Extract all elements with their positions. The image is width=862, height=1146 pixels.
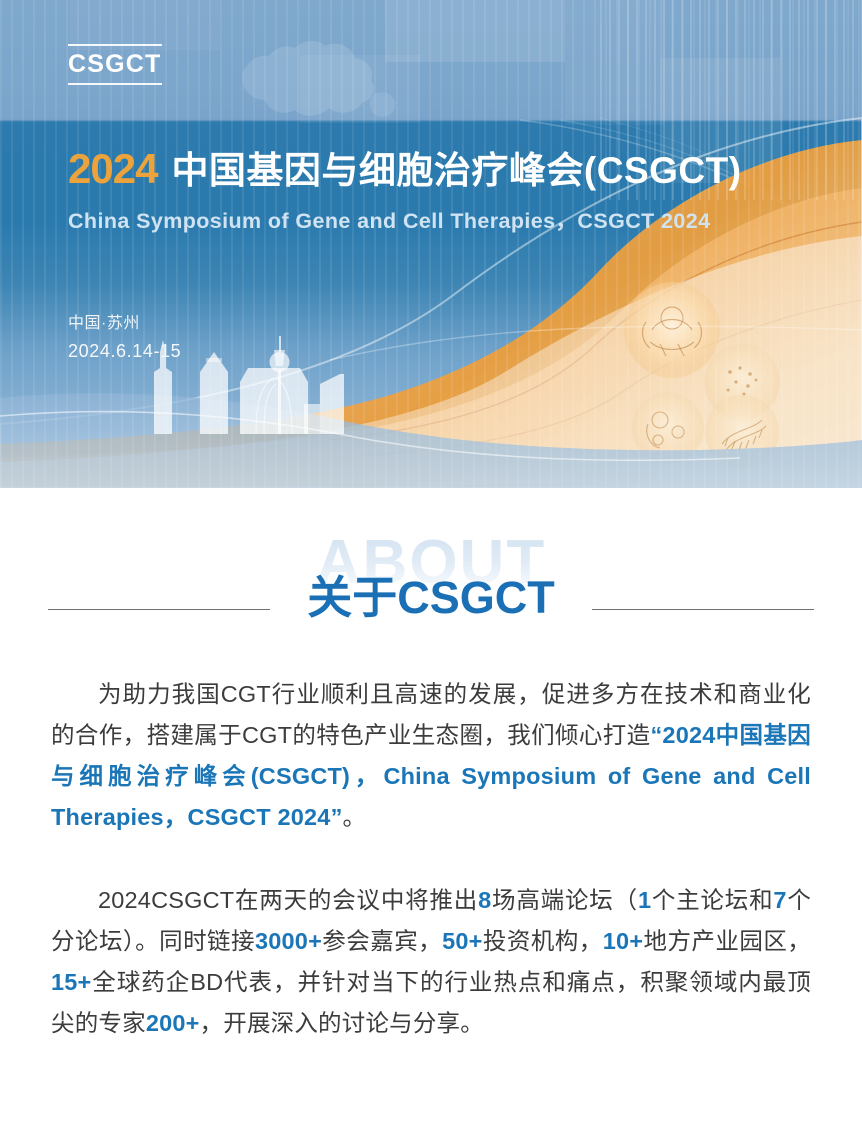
- para2-s6: 投资机构，: [483, 928, 603, 954]
- banner-year: 2024: [68, 146, 157, 192]
- para1-close-quote: ”: [331, 804, 343, 830]
- banner-title-row: 2024 中国基因与细胞治疗峰会(CSGCT): [68, 146, 742, 194]
- stat-sub-forums: 7: [773, 887, 786, 913]
- para2-s7: 地方产业园区，: [643, 928, 811, 954]
- hero-banner: CSGCT 2024 中国基因与细胞治疗峰会(CSGCT) China Symp…: [0, 0, 862, 488]
- about-header: ABOUT 关于CSGCT: [0, 532, 862, 652]
- page-title: 关于CSGCT: [0, 570, 862, 626]
- stat-bd-reps: 15+: [51, 969, 91, 995]
- stat-investors: 50+: [442, 928, 482, 954]
- stat-experts: 200+: [146, 1010, 200, 1036]
- stat-parks: 10+: [603, 928, 643, 954]
- para1-open-quote: “: [650, 722, 662, 748]
- para2-s2: 场高端论坛（: [491, 887, 638, 913]
- paragraph-spacer: [51, 864, 811, 880]
- para2-s3: 个主论坛和: [651, 887, 773, 913]
- paragraph-1: 为助力我国CGT行业顺利且高速的发展，促进多方在技术和商业化的合作，搭建属于CG…: [51, 674, 811, 838]
- banner-subtitle-en: China Symposium of Gene and Cell Therapi…: [68, 206, 710, 236]
- poster-page: CSGCT 2024 中国基因与细胞治疗峰会(CSGCT) China Symp…: [0, 0, 862, 1146]
- para2-s9: ，开展深入的讨论与分享。: [200, 1010, 484, 1036]
- paragraph-2: 2024CSGCT在两天的会议中将推出8场高端论坛（1个主论坛和7个分论坛）。同…: [51, 880, 811, 1044]
- para2-s1: 2024CSGCT在两天的会议中将推出: [98, 887, 478, 913]
- stat-main-forum: 1: [638, 887, 651, 913]
- stat-guests: 3000+: [255, 928, 322, 954]
- about-content: 为助力我国CGT行业顺利且高速的发展，促进多方在技术和商业化的合作，搭建属于CG…: [51, 652, 811, 1044]
- event-meta: 中国·苏州 2024.6.14-15: [68, 312, 181, 364]
- csgct-logo[interactable]: CSGCT: [68, 44, 162, 85]
- stat-forums: 8: [478, 887, 491, 913]
- para1-tail: 。: [343, 804, 367, 830]
- logo-text: CSGCT: [68, 49, 162, 79]
- event-location: 中国·苏州: [68, 312, 181, 336]
- banner-title-cn: 中国基因与细胞治疗峰会(CSGCT): [171, 148, 741, 194]
- event-date: 2024.6.14-15: [68, 338, 181, 364]
- para2-s5: 参会嘉宾，: [322, 928, 442, 954]
